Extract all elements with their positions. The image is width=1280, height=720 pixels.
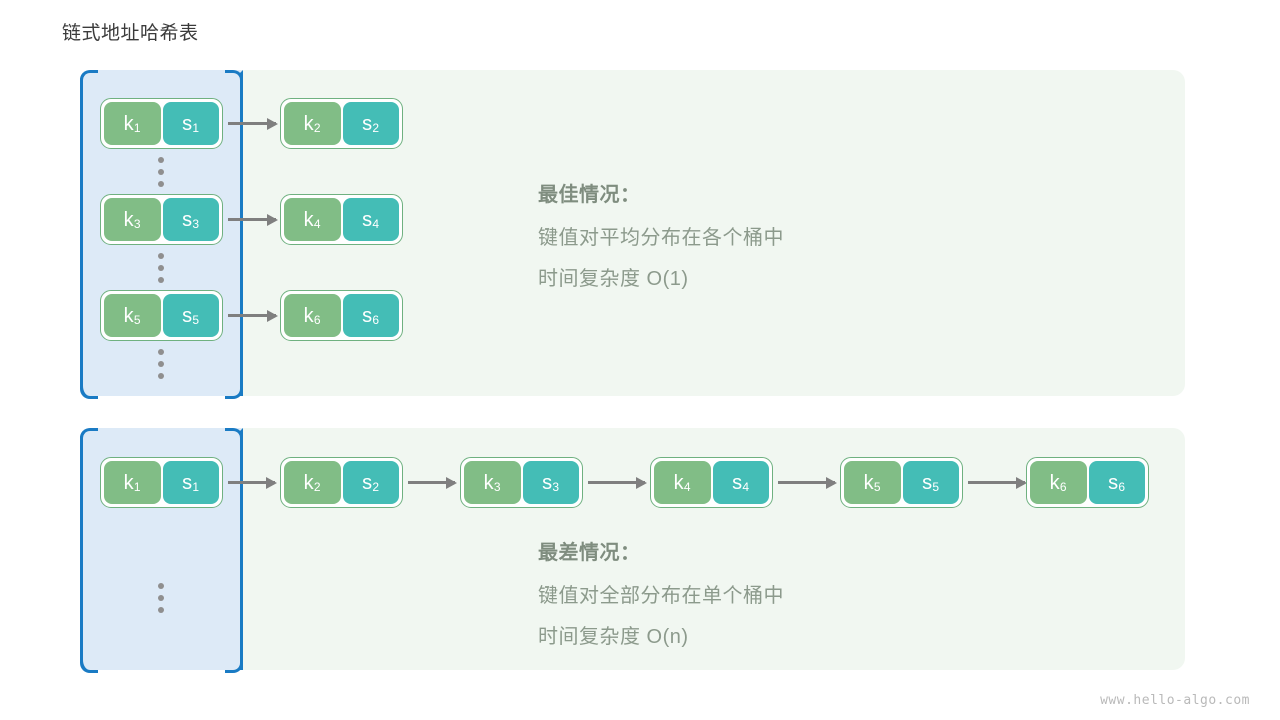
chain-arrow-3 (228, 314, 276, 317)
bucket-corner-top-right (225, 70, 243, 84)
value-cell: s1 (163, 461, 220, 504)
value-cell: s4 (713, 461, 770, 504)
value-cell: s2 (343, 461, 400, 504)
bucket-corner-bottom-right (225, 385, 243, 399)
bucket-ellipsis-2 (158, 253, 164, 283)
key-cell: k3 (104, 198, 161, 241)
worst-case-line-1: 键值对全部分布在单个桶中 (538, 579, 784, 608)
value-cell: s6 (1089, 461, 1146, 504)
worst-chain-arrow-1 (228, 481, 275, 484)
chain-node-worst-4[interactable]: k4 s4 (650, 457, 773, 508)
best-case-line-1: 键值对平均分布在各个桶中 (538, 221, 784, 250)
chain-arrow-1 (228, 122, 276, 125)
page-title: 链式地址哈希表 (62, 18, 199, 45)
worst-case-caption: 最差情况： 键值对全部分布在单个桶中 时间复杂度 O(n) (538, 536, 784, 661)
worst-chain-arrow-3 (588, 481, 645, 484)
bucket-corner-bottom-right (225, 659, 243, 673)
key-cell: k4 (654, 461, 711, 504)
bucket-node-k3s3[interactable]: k3 s3 (100, 194, 223, 245)
chain-node-k4s4[interactable]: k4 s4 (280, 194, 403, 245)
chain-node-worst-5[interactable]: k5 s5 (840, 457, 963, 508)
chain-arrow-2 (228, 218, 276, 221)
value-cell: s3 (523, 461, 580, 504)
value-cell: s6 (343, 294, 400, 337)
bucket-corner-top-right (225, 428, 243, 442)
chain-node-worst-6[interactable]: k6 s6 (1026, 457, 1149, 508)
chain-node-worst-3[interactable]: k3 s3 (460, 457, 583, 508)
worst-case-line-2: 时间复杂度 O(n) (538, 620, 784, 649)
value-cell: s5 (163, 294, 220, 337)
key-cell: k4 (284, 198, 341, 241)
chain-node-worst-1[interactable]: k1 s1 (100, 457, 223, 508)
chain-node-k6s6[interactable]: k6 s6 (280, 290, 403, 341)
best-case-line-2: 时间复杂度 O(1) (538, 262, 784, 291)
worst-chain-arrow-2 (408, 481, 455, 484)
chain-node-worst-2[interactable]: k2 s2 (280, 457, 403, 508)
bucket-node-k1s1[interactable]: k1 s1 (100, 98, 223, 149)
bucket-ellipsis-1 (158, 157, 164, 187)
best-case-caption: 最佳情况： 键值对平均分布在各个桶中 时间复杂度 O(1) (538, 178, 784, 303)
key-cell: k5 (844, 461, 901, 504)
chain-node-k2s2[interactable]: k2 s2 (280, 98, 403, 149)
value-cell: s3 (163, 198, 220, 241)
worst-case-heading: 最差情况： (538, 536, 784, 565)
worst-chain-arrow-5 (968, 481, 1025, 484)
key-cell: k6 (1030, 461, 1087, 504)
watermark: www.hello-algo.com (1100, 693, 1250, 708)
worst-chain-arrow-4 (778, 481, 835, 484)
key-cell: k6 (284, 294, 341, 337)
value-cell: s1 (163, 102, 220, 145)
key-cell: k2 (284, 102, 341, 145)
bucket-node-k5s5[interactable]: k5 s5 (100, 290, 223, 341)
best-case-heading: 最佳情况： (538, 178, 784, 207)
key-cell: k1 (104, 102, 161, 145)
value-cell: s5 (903, 461, 960, 504)
key-cell: k5 (104, 294, 161, 337)
key-cell: k2 (284, 461, 341, 504)
bucket-ellipsis-3 (158, 349, 164, 379)
value-cell: s4 (343, 198, 400, 241)
bucket-ellipsis-worst (158, 583, 164, 613)
key-cell: k3 (464, 461, 521, 504)
value-cell: s2 (343, 102, 400, 145)
key-cell: k1 (104, 461, 161, 504)
